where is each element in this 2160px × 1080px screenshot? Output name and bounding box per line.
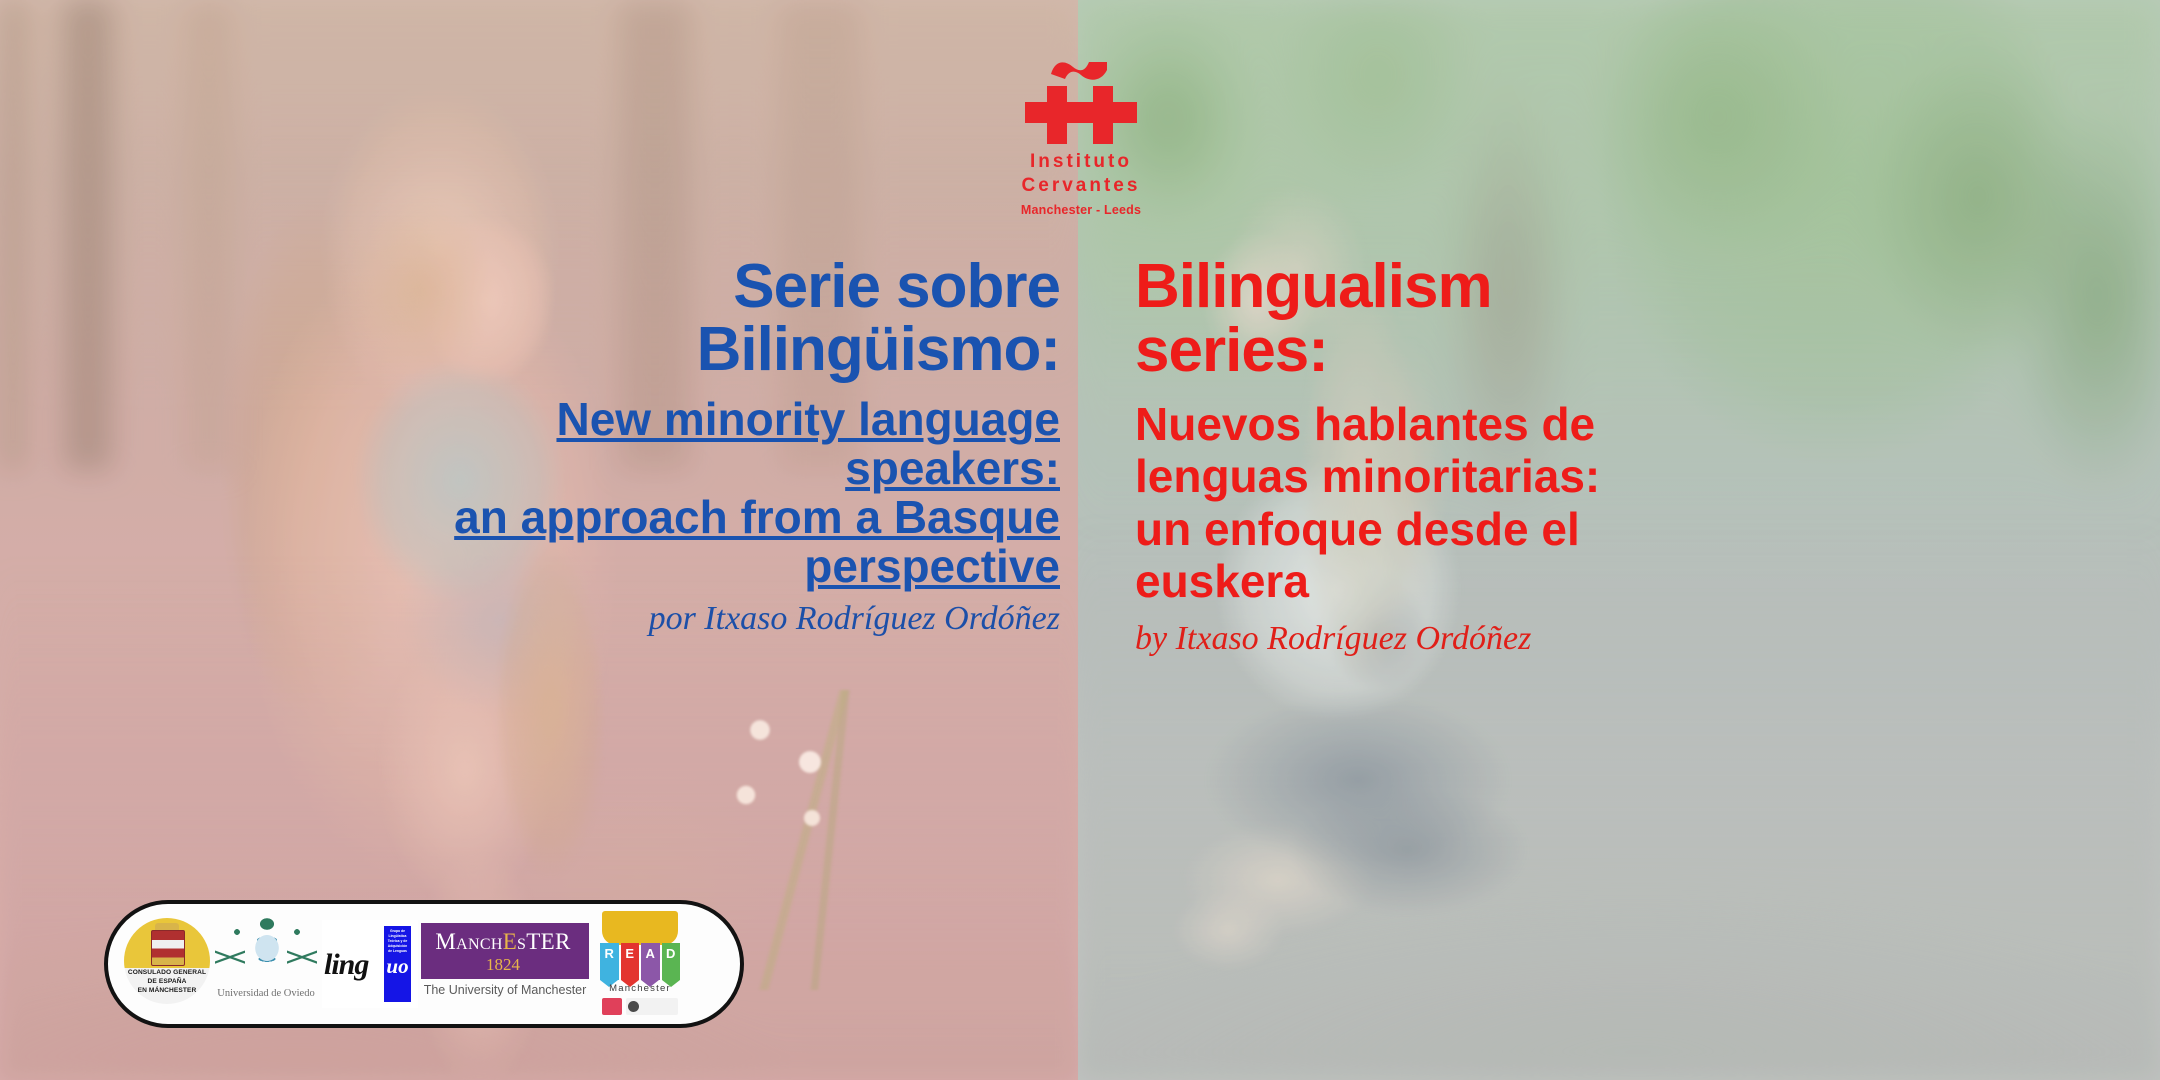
cervantes-line-2: Cervantes — [1006, 174, 1156, 198]
oviedo-left-tassel — [215, 934, 245, 982]
oviedo-emblem-icon: Universidad de Oviedo — [211, 914, 321, 1014]
spanish-subtitle: New minority language speakers: an appro… — [360, 395, 1060, 590]
spanish-subtitle-line2: speakers: — [845, 442, 1060, 494]
spanish-series-title-line1: Serie sobre — [360, 255, 1060, 318]
linguo-logo: ling Grupo de Lingüística Teórica y de A… — [322, 920, 418, 1008]
english-subtitle: Nuevos hablantes de lenguas minoritarias… — [1135, 398, 1775, 608]
manchester-subtitle: The University of Manchester — [419, 983, 591, 997]
linguo-wordmark-icon: ling Grupo de Lingüística Teórica y de A… — [322, 920, 418, 1008]
read-partner-mark-2 — [626, 998, 678, 1015]
spanish-series-title-line2: Bilingüismo: — [360, 318, 1060, 381]
manchester-wm-f: ER — [541, 929, 571, 954]
read-book-shape — [602, 911, 678, 945]
manchester-wm-c: E — [503, 929, 517, 954]
manchester-wm-e: T — [526, 929, 540, 954]
english-subtitle-line4: euskera — [1135, 555, 1309, 607]
english-author: by Itxaso Rodríguez Ordóñez — [1135, 620, 1775, 658]
linguo-box-caption: Grupo de Lingüística Teórica y de Adquis… — [386, 929, 409, 955]
cervantes-left-bar — [1047, 86, 1067, 144]
bilingualism-series-poster: Instituto Cervantes Manchester - Leeds S… — [0, 0, 2160, 1080]
cervantes-line-1: Instituto — [1006, 150, 1156, 174]
oviedo-logo: Universidad de Oviedo — [211, 914, 321, 1014]
manchester-wm-d: S — [517, 936, 526, 953]
spanish-subtitle-line4: perspective — [804, 540, 1060, 592]
manchester-year: 1824 — [419, 955, 587, 975]
read-letter-flags: R E A D — [600, 943, 680, 977]
manchester-logo: MANCHESTER 1824 The University of Manche… — [419, 919, 591, 1009]
consulate-logo: CONSULADO GENERAL DE ESPAÑA EN MÁNCHESTE… — [124, 916, 210, 1012]
consulate-line1: CONSULADO GENERAL — [128, 969, 206, 976]
read-flag-r: R — [600, 943, 619, 980]
consulate-caption: CONSULADO GENERAL DE ESPAÑA EN MÁNCHESTE… — [123, 968, 211, 995]
english-subtitle-line1: Nuevos hablantes de — [1135, 398, 1595, 450]
english-subtitle-line3: un enfoque desde el — [1135, 503, 1580, 555]
spanish-subtitle-line1: New minority language — [556, 393, 1060, 445]
english-series-title-line1: Bilingualism — [1135, 255, 1775, 319]
read-city-label: Manchester — [592, 983, 688, 994]
manchester-wm-a: M — [435, 929, 456, 954]
instituto-cervantes-icon — [1023, 58, 1139, 144]
manchester-wordmark-icon: MANCHESTER 1824 The University of Manche… — [419, 919, 591, 1009]
tilde-icon — [1049, 58, 1109, 80]
manchester-wordmark: MANCHESTER — [419, 929, 587, 955]
manchester-wm-b: ANCH — [456, 936, 503, 953]
oviedo-right-tassel — [287, 934, 317, 982]
cervantes-location: Manchester - Leeds — [1006, 203, 1156, 217]
english-series-title-line2: series: — [1135, 319, 1775, 383]
instituto-cervantes-logo: Instituto Cervantes Manchester - Leeds — [1006, 58, 1156, 217]
cervantes-right-bar — [1093, 86, 1113, 144]
consulate-emblem-icon: CONSULADO GENERAL DE ESPAÑA EN MÁNCHESTE… — [124, 916, 210, 1012]
english-subtitle-line2: lenguas minoritarias: — [1135, 450, 1600, 502]
spanish-text-block: Serie sobre Bilingüismo: New minority la… — [360, 255, 1060, 638]
english-text-block: Bilingualism series: Nuevos hablantes de… — [1135, 255, 1775, 658]
consulate-coat-of-arms — [151, 930, 185, 966]
linguo-wordmark: ling — [324, 948, 368, 982]
read-flag-a: A — [641, 943, 660, 980]
sponsor-logo-bar: CONSULADO GENERAL DE ESPAÑA EN MÁNCHESTE… — [104, 900, 744, 1028]
read-manchester-icon: R E A D Manchester — [592, 909, 688, 1019]
consulate-line3: EN MÁNCHESTER — [138, 987, 197, 994]
read-partner-mark-1 — [602, 998, 622, 1015]
linguo-box-letters: uo — [384, 954, 411, 979]
read-manchester-logo: R E A D Manchester — [592, 909, 688, 1019]
spanish-subtitle-line3: an approach from a Basque — [454, 491, 1060, 543]
read-partner-marks — [602, 997, 678, 1015]
read-flag-e: E — [621, 943, 640, 980]
spanish-author: por Itxaso Rodríguez Ordóñez — [360, 600, 1060, 638]
read-flag-d: D — [662, 943, 681, 980]
consulate-line2: DE ESPAÑA — [148, 978, 187, 985]
cervantes-horizontal-bar — [1025, 102, 1137, 123]
oviedo-label: Universidad de Oviedo — [211, 988, 321, 999]
